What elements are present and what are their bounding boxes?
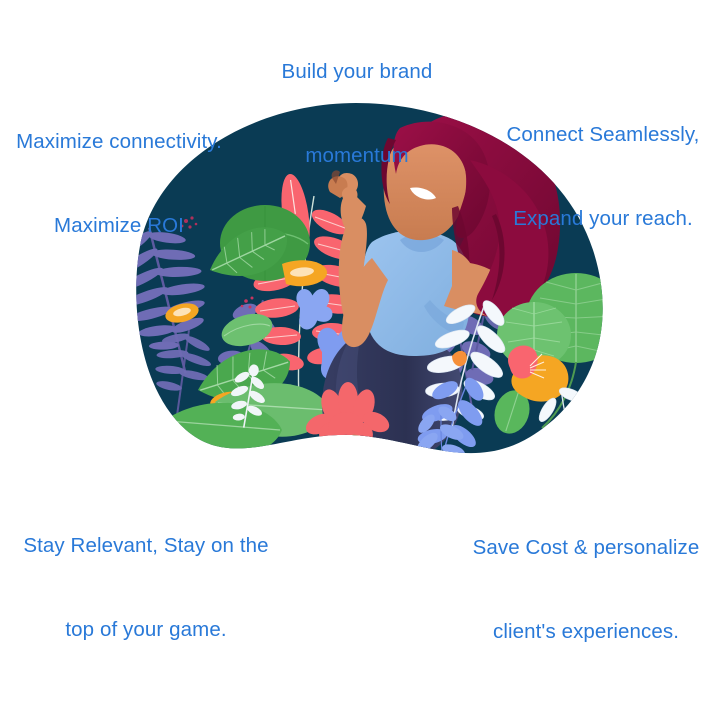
caption-stay-relevant: Stay Relevant, Stay on the top of your g… [6,476,286,700]
white-sprig-left [226,362,270,430]
caption-line: Maximize ROI [2,212,236,240]
caption-maximize-connectivity: Maximize connectivity. Maximize ROI [2,72,236,296]
white-leaf-sprays [411,287,619,504]
blue-flowers-left [296,285,377,380]
caption-line: Expand your reach. [487,205,719,233]
green-foliage-right [489,273,626,438]
caption-build-brand-momentum: Build your brand momentum [232,2,482,226]
blue-ferns-right [405,364,669,491]
caption-line: Maximize connectivity. [2,128,236,156]
caption-line: momentum [232,142,482,170]
orange-flower-right [508,345,568,401]
caption-line: Build your brand [232,58,482,86]
caption-line: Save Cost & personalize [452,534,720,562]
caption-line: Connect Seamlessly, [487,121,719,149]
caption-line: Stay Relevant, Stay on the [6,532,286,560]
caption-line: top of your game. [6,616,286,644]
orange-bud [452,351,467,366]
caption-line: client's experiences. [452,618,720,646]
coral-flower-bottom [303,382,393,451]
poster-canvas: Build your brand momentum Maximize conne… [0,0,721,541]
caption-save-cost: Save Cost & personalize client's experie… [452,478,720,702]
caption-connect-seamlessly: Connect Seamlessly, Expand your reach. [487,65,719,289]
